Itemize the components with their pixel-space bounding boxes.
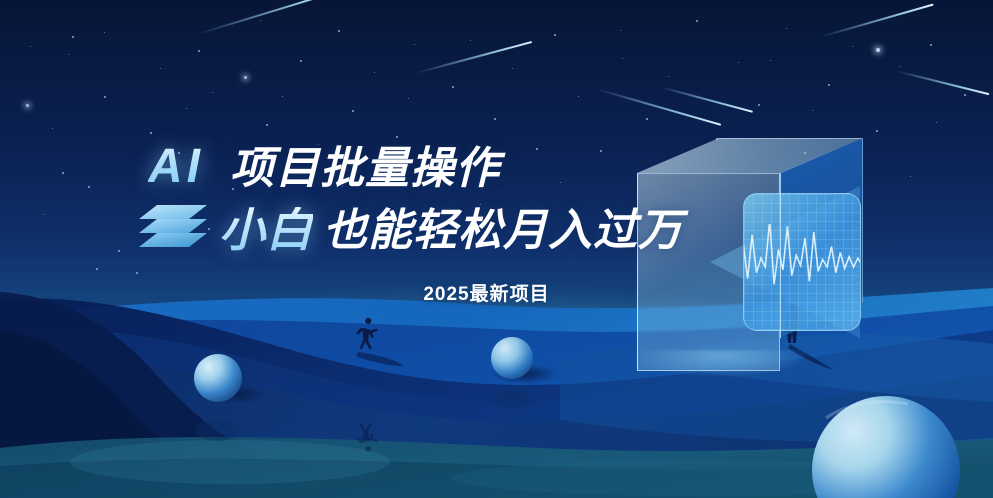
headline-line-1: AI 项目批量操作	[148, 143, 500, 191]
headline-line-2-text: 也能轻松月入过万	[323, 209, 683, 253]
ai-badge-text: AI	[148, 143, 208, 191]
headline-accent-text: 小白	[219, 207, 313, 253]
subtitle-text: 2025最新项目	[423, 279, 549, 306]
cube-edge-mid	[780, 173, 781, 338]
promo-banner: AI 项目批量操作	[0, 0, 993, 498]
cube-screen	[743, 193, 861, 331]
glass-cube	[615, 138, 885, 378]
stacked-layers-icon	[137, 203, 209, 253]
subtitle: 2025最新项目	[0, 279, 993, 306]
headline-line-2: 小白 也能轻松月入过万	[137, 203, 683, 253]
headline-line-1-text: 项目批量操作	[230, 147, 500, 191]
